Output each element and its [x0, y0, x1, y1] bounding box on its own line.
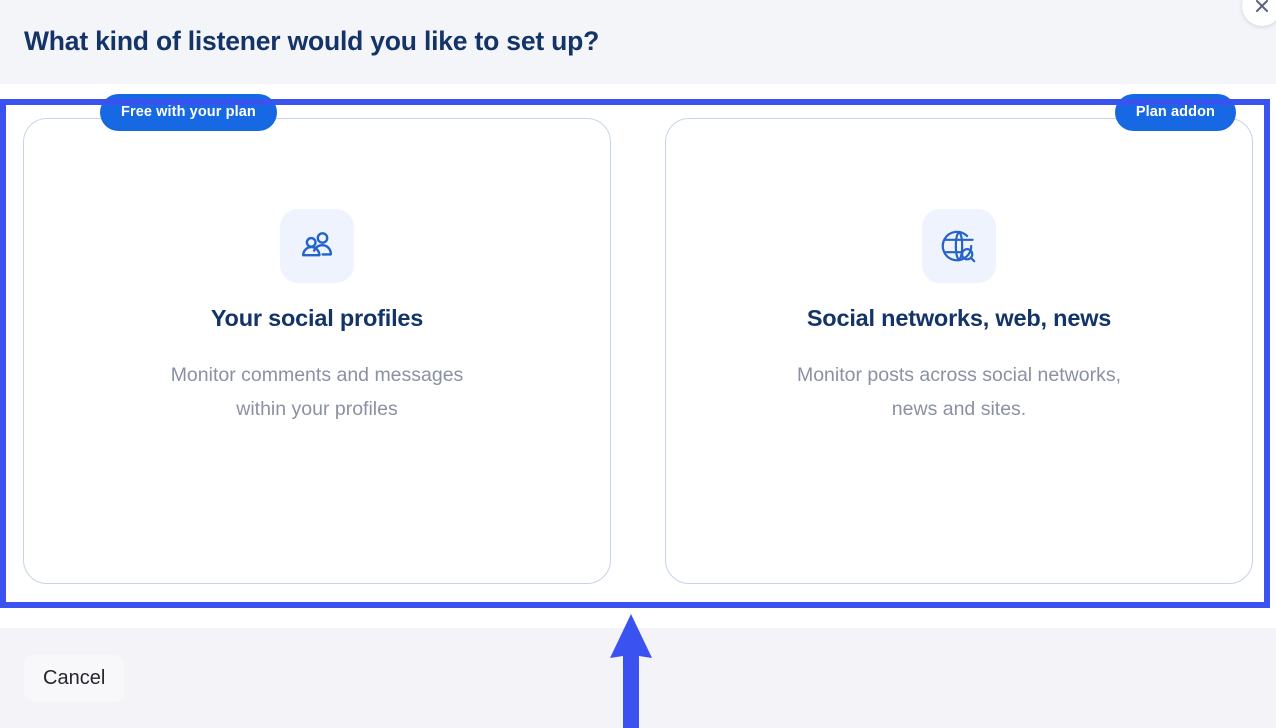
cancel-button[interactable]: Cancel	[24, 655, 124, 701]
option-card-social-networks-web-news[interactable]: Plan addon Social networks, web, news Mo…	[665, 118, 1253, 584]
globe-search-icon	[922, 209, 996, 283]
option-card-social-profiles[interactable]: Free with your plan Your social profiles…	[23, 118, 611, 584]
badge-free-with-plan: Free with your plan	[100, 94, 277, 131]
page-title: What kind of listener would you like to …	[24, 26, 599, 58]
option-description: Monitor comments and messages within you…	[147, 359, 487, 425]
people-icon	[280, 209, 354, 283]
option-description: Monitor posts across social networks, ne…	[789, 359, 1129, 425]
badge-plan-addon: Plan addon	[1115, 94, 1236, 131]
option-title: Social networks, web, news	[807, 304, 1111, 333]
modal-footer: Cancel	[0, 628, 1276, 728]
listener-type-modal: What kind of listener would you like to …	[0, 0, 1276, 728]
modal-header: What kind of listener would you like to …	[0, 0, 1276, 84]
modal-body: Free with your plan Your social profiles…	[0, 84, 1276, 628]
option-title: Your social profiles	[211, 304, 423, 333]
listener-options: Free with your plan Your social profiles…	[0, 99, 1276, 608]
